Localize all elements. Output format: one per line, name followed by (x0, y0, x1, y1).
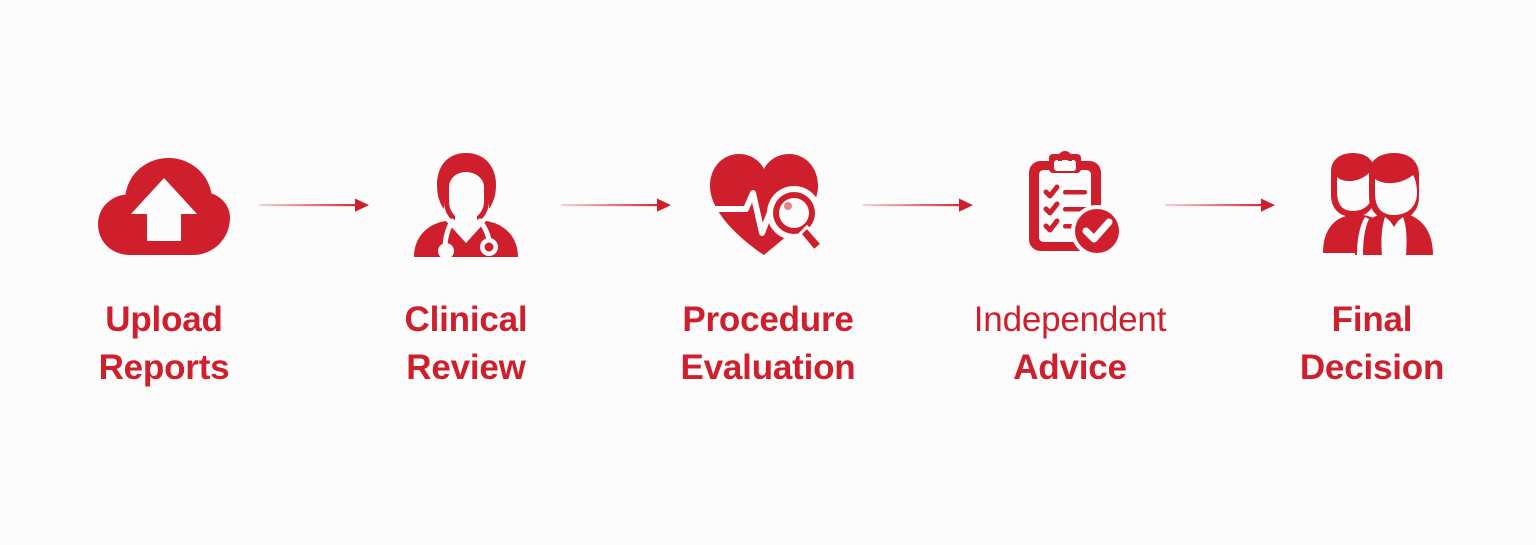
arrow-right-icon (561, 195, 673, 215)
flow-connector-1 (257, 150, 373, 260)
doctor-stethoscope-icon (396, 150, 536, 260)
flow-step-final-decision: Final Decision (1279, 150, 1465, 392)
flow-step-upload-reports: Upload Reports (71, 150, 257, 392)
process-flow-diagram: Upload Reports (0, 0, 1536, 545)
flow-step-label: Final Decision (1300, 296, 1444, 392)
flow-step-label: Upload Reports (99, 296, 230, 392)
flow-step-label-line1: Final (1300, 296, 1444, 344)
arrow-right-icon (259, 195, 371, 215)
flow-step-label-line1: Procedure (681, 296, 856, 344)
arrow-right-icon (1165, 195, 1277, 215)
flow-step-independent-advice: Independent Advice (977, 150, 1163, 392)
flow-connector-4 (1163, 150, 1279, 260)
flow-step-procedure-evaluation: Procedure Evaluation (675, 150, 861, 392)
flow-step-label-line1: Clinical (405, 296, 528, 344)
heart-ecg-magnifier-icon (698, 150, 838, 260)
flow-step-label-line1: Independent (974, 296, 1166, 344)
arrow-right-icon (863, 195, 975, 215)
cloud-upload-icon (94, 150, 234, 260)
flow-step-label: Procedure Evaluation (681, 296, 856, 392)
flow-step-label-line2: Evaluation (681, 344, 856, 392)
flow-step-label: Clinical Review (405, 296, 528, 392)
flow-step-clinical-review: Clinical Review (373, 150, 559, 392)
two-people-icon (1302, 150, 1442, 260)
flow-step-label-line1: Upload (99, 296, 230, 344)
flow-step-label-line2: Reports (99, 344, 230, 392)
clipboard-checklist-verified-icon (1000, 150, 1140, 260)
flow-step-label: Independent Advice (974, 296, 1166, 392)
flow-step-label-line2: Decision (1300, 344, 1444, 392)
flow-step-label-line2: Advice (974, 344, 1166, 392)
flow-step-label-line2: Review (405, 344, 528, 392)
flow-connector-2 (559, 150, 675, 260)
flow-connector-3 (861, 150, 977, 260)
